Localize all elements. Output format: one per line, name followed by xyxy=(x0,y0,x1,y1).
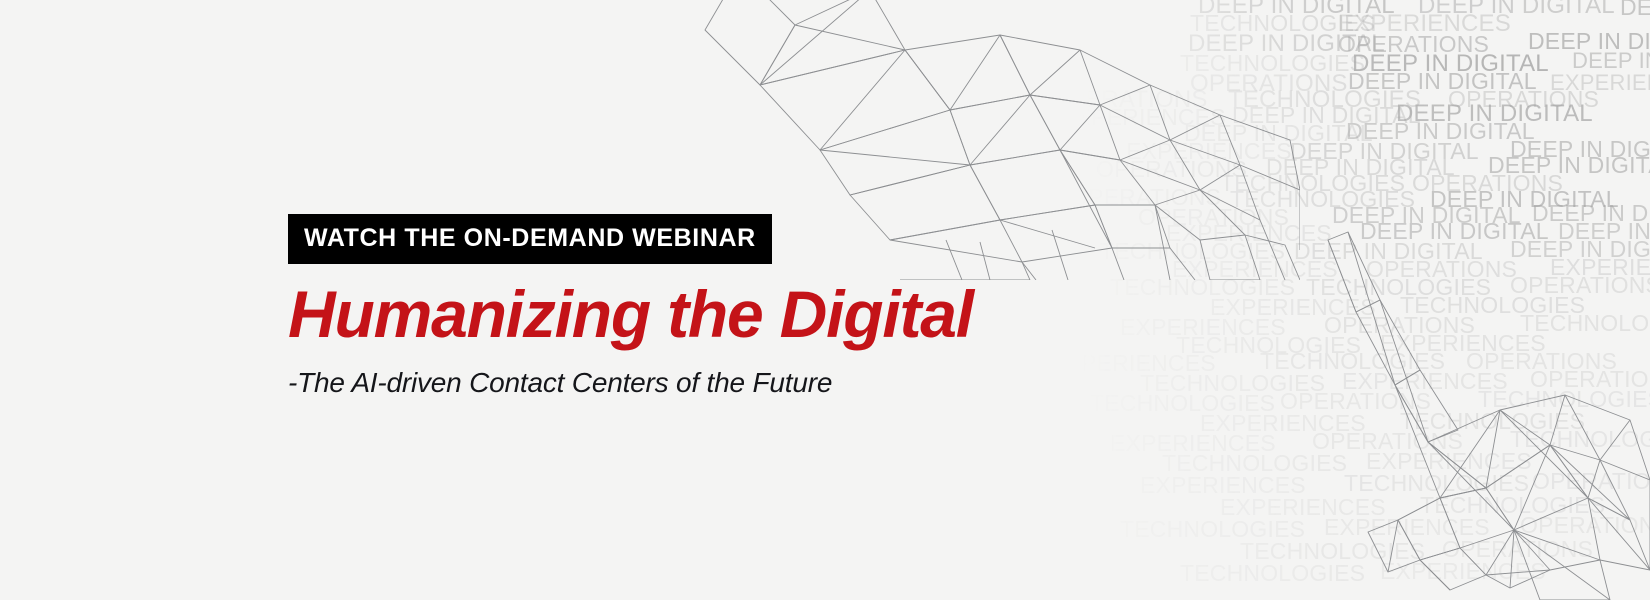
wordcloud-word: OPERATIONS xyxy=(1366,258,1517,281)
wordcloud-word: DEEP IN DIGITAL xyxy=(1184,122,1373,145)
wordcloud-word: DEEP IN DIGITAL xyxy=(1620,0,1650,19)
wordcloud-word: TECHNOLOGIES xyxy=(1260,350,1445,373)
wordcloud-word: TECHNOLOGIES xyxy=(1120,518,1305,541)
wordcloud-word: DEEP IN DIGITAL xyxy=(1232,104,1421,127)
wordcloud-word: DEEP IN DIGITAL xyxy=(1418,0,1615,18)
wordcloud-word: DEEP IN DIGITAL xyxy=(1430,188,1619,211)
wordcloud-word: EXPERIENCES xyxy=(1210,296,1376,319)
wordcloud-word: EXPERIENCES xyxy=(1380,560,1546,583)
wordcloud-word: EXPERIENCES xyxy=(1366,450,1532,473)
wordcloud-word: DEEP IN DIGITAL xyxy=(1558,220,1650,243)
wordcloud-word: DEEP IN DIGITAL xyxy=(1510,138,1650,161)
wordcloud-word: OPERATIONS xyxy=(1412,172,1563,195)
wordcloud-word: OPERATIONS xyxy=(1080,186,1221,209)
wordcloud-word: OPERATIONS xyxy=(1520,514,1650,537)
wordcloud-word: TECHNOLOGIES xyxy=(1230,188,1415,211)
wordcloud-word: EXPERIENCES xyxy=(1550,72,1650,94)
wordcloud-word: DEEP IN DIGITAL xyxy=(1352,52,1549,76)
wordcloud-word: TECHNOLOGIES xyxy=(1240,540,1425,563)
wordcloud-word: TECHNOLOGIES xyxy=(1400,294,1585,317)
wordcloud-word: TECHNOLOGIES xyxy=(1510,428,1650,451)
page-subtitle: -The AI-driven Contact Centers of the Fu… xyxy=(288,365,1188,400)
wordcloud-word: OPERATIONS xyxy=(1312,430,1463,453)
wordcloud-word: DEEP IN DIGITAL xyxy=(1332,204,1521,227)
wordcloud-word: DEEP IN DIGITAL xyxy=(1348,70,1537,93)
wordcloud-word: EXPERIENCES xyxy=(1126,140,1292,163)
wordcloud-word: DEEP IN DIGITAL xyxy=(1294,240,1483,263)
wordcloud-word: OPERATIONS xyxy=(1532,470,1650,493)
wordcloud-word: OPERATIONS xyxy=(1190,72,1348,96)
wordcloud-word: TECHNOLOGIES xyxy=(1180,52,1365,75)
wordcloud-word: EXPERIENCES xyxy=(1166,222,1332,245)
wordcloud-word: OPERATIONS xyxy=(1466,350,1617,373)
wordcloud-word: OPERATIONS xyxy=(1442,538,1593,561)
wordcloud-word: EXPERIENCES xyxy=(1342,370,1508,393)
wordcloud-word: DEEP IN DIGITAL xyxy=(1572,50,1650,72)
webinar-hero-banner: DEEP IN DIGITALDEEP IN DIGITALDEEP IN DI… xyxy=(0,0,1650,600)
wordcloud-word: TECHNOLOGIES xyxy=(1344,472,1529,495)
wordcloud-word: EXPERIENCES xyxy=(1172,258,1338,281)
wordcloud-word: OPERATIONS xyxy=(1080,88,1208,112)
wordcloud-word: EXPERIENCES xyxy=(1550,256,1650,279)
wordcloud-word: DEEP IN DIGITAL xyxy=(1532,202,1650,225)
wordcloud-word: DEEP IN DIGITAL xyxy=(1510,238,1650,261)
wordcloud-word: TECHNOLOGIES xyxy=(1190,12,1375,35)
wordcloud-word: DEEP IN DIGITAL xyxy=(1346,120,1535,143)
hero-copy-block: WATCH THE ON-DEMAND WEBINAR Humanizing t… xyxy=(288,214,1188,400)
wordcloud-word: EXPERIENCES xyxy=(1080,106,1226,129)
wordcloud-word: TECHNOLOGIES xyxy=(1180,562,1365,585)
wordcloud-word: OPERATIONS xyxy=(1448,88,1599,111)
wordcloud-word: DEEP IN DIGITAL xyxy=(1188,32,1385,56)
wordcloud-word: OPERATIONS xyxy=(1324,314,1475,337)
wordcloud-word: DEEP IN DIGITAL xyxy=(1290,140,1479,163)
wordcloud-word: TECHNOLOGIES xyxy=(1306,276,1491,299)
page-title: Humanizing the Digital xyxy=(288,280,1188,349)
wordcloud-word: DEEP IN DIGITAL xyxy=(1528,30,1650,53)
wordcloud-word: OPERATIONS xyxy=(1510,274,1650,297)
wordcloud-word: OPERATIONS xyxy=(1096,158,1247,181)
wordcloud-word: EXPERIENCES xyxy=(1200,412,1366,435)
wordcloud-word: TECHNOLOGIES xyxy=(1420,494,1605,517)
wordcloud-word: OPERATIONS xyxy=(1530,368,1650,391)
wordcloud-word: DEEP IN DIGITAL xyxy=(1360,220,1549,243)
wordcloud-word: TECHNOLOGIES xyxy=(1228,88,1421,112)
wordcloud-word: DEEP IN DIGITAL xyxy=(1198,0,1395,18)
wordcloud-word: TECHNOLOGIES xyxy=(1400,410,1585,433)
wordcloud-word: OPERATIONS xyxy=(1338,33,1489,56)
wordcloud-word: TECHNOLOGIES xyxy=(1478,388,1650,411)
wordcloud-word: OPERATIONS xyxy=(1280,390,1431,413)
wordcloud-word: DEEP IN DIGITAL xyxy=(1488,154,1650,177)
wordcloud-word: DEEP IN DIGITAL xyxy=(1396,102,1593,126)
wordcloud-word: TECHNOLOGIES xyxy=(1176,334,1361,357)
wordcloud-word: TECHNOLOGIES xyxy=(1520,312,1650,335)
wordcloud-word: EXPERIENCES xyxy=(1380,332,1546,355)
wordcloud-word: TECHNOLOGIES xyxy=(1162,452,1347,475)
wordcloud-word: EXPERIENCES xyxy=(1110,432,1276,455)
wordcloud-word: EXPERIENCES xyxy=(1338,12,1511,36)
wordcloud-word: EXPERIENCES xyxy=(1140,474,1306,497)
eyebrow-badge: WATCH THE ON-DEMAND WEBINAR xyxy=(288,214,772,264)
wordcloud-word: TECHNOLOGIES xyxy=(1220,172,1405,195)
wireframe-hand-bottom-icon xyxy=(1300,230,1650,600)
wordcloud-word: EXPERIENCES xyxy=(1220,496,1386,519)
wordcloud-word: EXPERIENCES xyxy=(1324,516,1490,539)
wordcloud-word: DEEP IN DIGITAL xyxy=(1266,156,1455,179)
